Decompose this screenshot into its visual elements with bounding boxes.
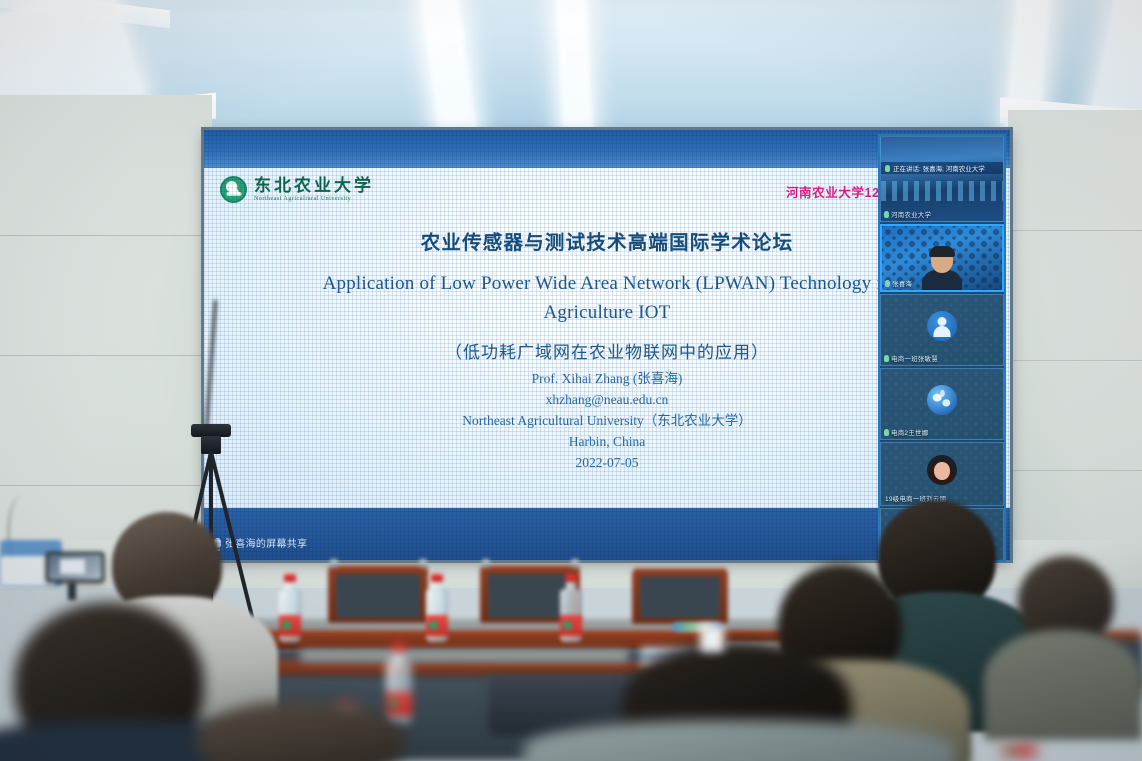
water-bottle-1 xyxy=(279,580,301,642)
video-conference-sidebar[interactable]: 正在讲话: 张喜海; 河南农业大学 河南农业大学 张喜海 电商一班张敏慧 xyxy=(880,136,1004,560)
university-crest-icon xyxy=(220,176,247,203)
ceiling-panel-2 xyxy=(597,4,1004,134)
bag-on-table xyxy=(488,676,658,736)
blue-object-right xyxy=(1000,640,1140,700)
video-tile-name: 19级电商一班刘云朋 xyxy=(885,493,946,503)
water-bottle-5 xyxy=(330,708,362,761)
avatar-person-icon xyxy=(927,311,957,341)
water-bottle-2 xyxy=(426,580,448,642)
water-bottle-3 xyxy=(560,580,582,642)
speaking-banner-text: 正在讲话: 张喜海; 河南农业大学 xyxy=(893,163,985,173)
water-bottle-6 xyxy=(1002,718,1036,761)
speaking-banner: 正在讲话: 张喜海; 河南农业大学 xyxy=(881,162,1003,174)
mic-icon xyxy=(214,538,221,548)
video-tile-name: 电商一班张敏慧 xyxy=(884,353,938,363)
video-tile-participant-3[interactable]: 19级电商一班刘云朋 xyxy=(880,442,1004,506)
video-tile-name: 张喜海 xyxy=(885,278,912,288)
speaker-video-figure xyxy=(922,246,962,290)
wall-right xyxy=(1008,110,1142,565)
video-tile-name: 电商2王世娜 xyxy=(884,427,928,437)
mic-icon xyxy=(884,355,889,362)
screen-share-text: 张喜海的屏幕共享 xyxy=(225,535,307,550)
table-mid-edge xyxy=(250,630,950,652)
laptop xyxy=(676,736,786,761)
hand-raised xyxy=(702,632,724,676)
pen xyxy=(628,655,714,659)
table-front-edge xyxy=(268,660,968,680)
video-tile-partial[interactable] xyxy=(880,508,1004,560)
mic-icon xyxy=(885,165,890,172)
mic-icon xyxy=(885,280,890,287)
screen-share-label: 张喜海的屏幕共享 xyxy=(214,535,307,550)
blue-folder-right xyxy=(920,660,1060,706)
avatar-globe-icon xyxy=(927,385,957,415)
mic-icon xyxy=(884,211,889,218)
logo-name-cn: 东北农业大学 xyxy=(254,177,374,194)
video-tile-speaker[interactable]: 张喜海 xyxy=(880,224,1004,292)
held-object xyxy=(700,626,724,652)
mic-icon xyxy=(884,429,889,436)
wall-left xyxy=(0,95,212,565)
table-front-panel xyxy=(268,676,968,761)
table-mid-top xyxy=(250,618,950,632)
video-tile-participant-1[interactable]: 电商一班张敏慧 xyxy=(880,294,1004,366)
university-logo: 东北农业大学 Northeast Agricultural University xyxy=(220,176,374,203)
logo-name-en: Northeast Agricultural University xyxy=(254,196,374,202)
table-mid-front xyxy=(250,650,950,690)
papers-mid xyxy=(726,642,782,658)
avatar-photo xyxy=(927,455,957,485)
desk-cable-connector xyxy=(672,622,722,632)
conference-room-scene: 东北农业大学 Northeast Agricultural University… xyxy=(0,0,1142,761)
video-tile-name: 河南农业大学 xyxy=(884,209,931,219)
water-bottle-4 xyxy=(386,650,412,724)
video-tile-room[interactable]: 正在讲话: 张喜海; 河南农业大学 河南农业大学 xyxy=(880,136,1004,222)
papers-front xyxy=(640,648,760,668)
table-front-top xyxy=(300,650,630,662)
video-tile-participant-2[interactable]: 电商2王世娜 xyxy=(880,368,1004,440)
